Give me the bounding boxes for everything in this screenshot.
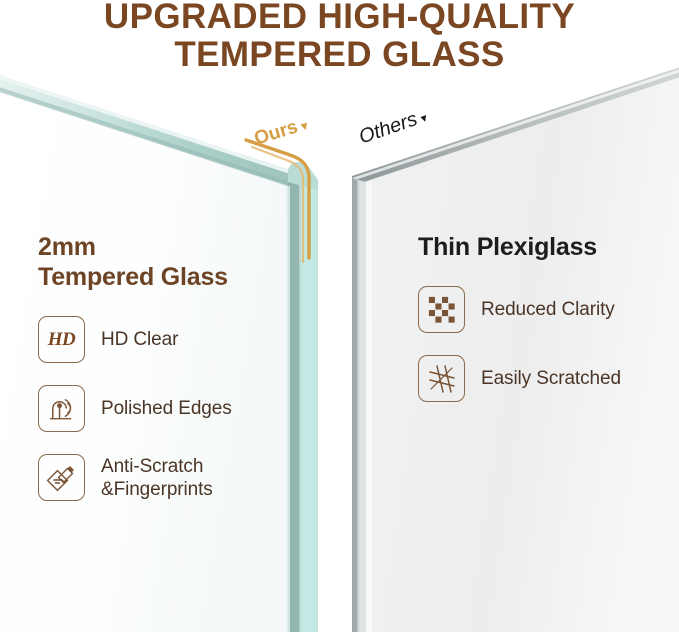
feature-polished-edges: Polished Edges (38, 385, 288, 432)
feature-label-hd-clear: HD Clear (101, 328, 178, 351)
hd-icon-text: HD (48, 329, 76, 351)
feature-label-anti-scratch: Anti-Scratch &Fingerprints (101, 455, 213, 501)
feature-hd-clear: HD HD Clear (38, 316, 288, 363)
others-heading: Thin Plexiglass (418, 232, 666, 262)
feature-label-polished-edges: Polished Edges (101, 397, 232, 420)
infographic-root: UPGRADED HIGH-QUALITY TEMPERED GLASS Our… (0, 0, 679, 632)
checkerboard-glyph (427, 295, 457, 325)
ours-feature-panel: 2mm Tempered Glass HD HD Clear (38, 232, 288, 523)
feature-label-easily-scratched: Easily Scratched (481, 367, 621, 390)
polish-icon (38, 385, 85, 432)
feature-label-anti-scratch-line-2: &Fingerprints (101, 478, 213, 501)
feature-label-anti-scratch-line-1: Anti-Scratch (101, 455, 213, 478)
feature-anti-scratch: Anti-Scratch &Fingerprints (38, 454, 288, 501)
title-line-1: UPGRADED HIGH-QUALITY (0, 0, 679, 36)
anti-scratch-icon (38, 454, 85, 501)
scratch-lines-glyph (426, 363, 458, 395)
ours-feature-list: HD HD Clear Polished Edges (38, 316, 288, 501)
cloth-brush-glyph (46, 462, 78, 494)
others-heading-line-1: Thin Plexiglass (418, 232, 666, 262)
feature-label-reduced-clarity: Reduced Clarity (481, 298, 615, 321)
title-line-2: TEMPERED GLASS (0, 36, 679, 74)
polish-wheel-glyph (46, 393, 77, 424)
ours-heading: 2mm Tempered Glass (38, 232, 288, 292)
page-title: UPGRADED HIGH-QUALITY TEMPERED GLASS (0, 0, 679, 74)
mosaic-icon (418, 286, 465, 333)
hd-icon: HD (38, 316, 85, 363)
others-feature-list: Reduced Clarity Easily Scratched (418, 286, 666, 402)
ours-heading-line-1: 2mm (38, 232, 288, 262)
feature-reduced-clarity: Reduced Clarity (418, 286, 666, 333)
feature-easily-scratched: Easily Scratched (418, 355, 666, 402)
ours-heading-line-2: Tempered Glass (38, 262, 288, 292)
scratches-icon (418, 355, 465, 402)
others-feature-panel: Thin Plexiglass (418, 232, 666, 424)
